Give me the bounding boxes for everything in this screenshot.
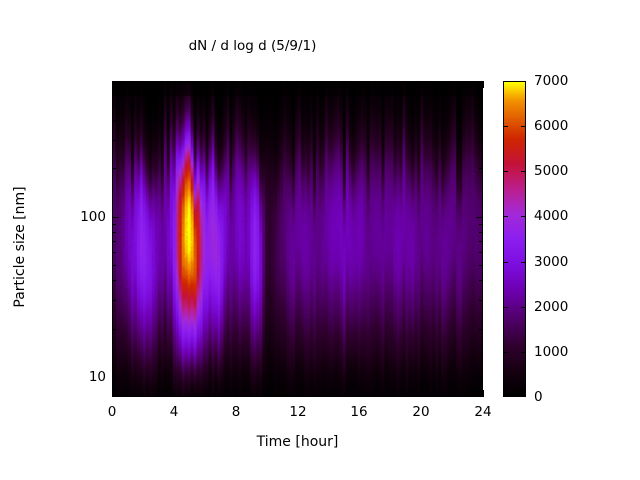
colorbar-tick xyxy=(521,216,526,217)
x-tick-top xyxy=(220,81,221,85)
y-tick xyxy=(112,217,119,218)
x-tick-label: 8 xyxy=(232,404,241,420)
y-tick-right xyxy=(479,329,483,330)
x-tick xyxy=(251,393,252,397)
y-tick xyxy=(112,300,116,301)
colorbar-tick xyxy=(503,216,508,217)
x-tick xyxy=(174,390,175,397)
y-tick-right xyxy=(479,280,483,281)
colorbar-tick xyxy=(503,126,508,127)
x-tick xyxy=(298,390,299,397)
y-tick-right xyxy=(479,92,483,93)
y-tick xyxy=(112,168,116,169)
y-tick xyxy=(112,241,116,242)
y-tick xyxy=(112,232,116,233)
y-tick xyxy=(112,329,116,330)
x-tick-top xyxy=(421,81,422,88)
chart-root: dN / d log d (5/9/1) 04812162024 10100 T… xyxy=(0,0,640,480)
x-tick xyxy=(483,390,484,397)
x-tick-label: 12 xyxy=(289,404,306,420)
x-tick xyxy=(282,393,283,397)
y-tick-right xyxy=(479,265,483,266)
x-tick-top xyxy=(298,81,299,88)
x-tick-label: 16 xyxy=(350,404,367,420)
x-tick-top xyxy=(406,81,407,85)
x-tick xyxy=(359,390,360,397)
y-tick-right xyxy=(479,252,483,253)
x-tick-top xyxy=(437,81,438,85)
colorbar xyxy=(503,81,526,397)
colorbar-tick-label: 1000 xyxy=(534,344,568,360)
colorbar-tick xyxy=(521,171,526,172)
y-tick-right xyxy=(479,104,483,105)
x-tick-label: 0 xyxy=(108,404,117,420)
colorbar-canvas xyxy=(504,82,525,396)
x-tick-top xyxy=(468,81,469,85)
x-tick xyxy=(205,393,206,397)
colorbar-tick xyxy=(521,126,526,127)
x-tick xyxy=(375,393,376,397)
y-tick xyxy=(112,265,116,266)
y-tick xyxy=(112,92,116,93)
colorbar-tick-label: 7000 xyxy=(534,73,568,89)
x-tick-top xyxy=(375,81,376,85)
y-tick-right xyxy=(479,168,483,169)
x-tick xyxy=(158,393,159,397)
colorbar-tick-label: 5000 xyxy=(534,163,568,179)
x-tick-top xyxy=(205,81,206,85)
x-tick-top xyxy=(390,81,391,85)
x-tick xyxy=(313,393,314,397)
chart-title: dN / d log d (5/9/1) xyxy=(0,38,505,54)
y-tick-right xyxy=(479,300,483,301)
x-tick-label: 4 xyxy=(170,404,179,420)
x-tick xyxy=(236,390,237,397)
x-tick xyxy=(452,393,453,397)
x-tick-label: 24 xyxy=(474,404,491,420)
y-tick xyxy=(112,280,116,281)
y-tick-right xyxy=(476,217,483,218)
x-tick xyxy=(421,390,422,397)
y-tick-right xyxy=(479,241,483,242)
y-tick xyxy=(112,120,116,121)
x-tick-top xyxy=(127,81,128,85)
x-tick xyxy=(437,393,438,397)
y-tick xyxy=(112,104,116,105)
x-tick-top xyxy=(267,81,268,85)
x-tick-label: 20 xyxy=(412,404,429,420)
y-tick-right xyxy=(479,224,483,225)
x-tick xyxy=(220,393,221,397)
colorbar-tick xyxy=(503,171,508,172)
x-tick-top xyxy=(112,81,113,88)
x-tick xyxy=(406,393,407,397)
y-tick xyxy=(112,252,116,253)
colorbar-tick-label: 0 xyxy=(534,389,543,405)
y-tick-label: 10 xyxy=(89,369,106,385)
x-tick-top xyxy=(313,81,314,85)
heatmap-plot-area xyxy=(112,81,483,397)
x-tick-top xyxy=(174,81,175,88)
colorbar-tick-label: 6000 xyxy=(534,118,568,134)
x-tick xyxy=(112,390,113,397)
x-tick-top xyxy=(483,81,484,88)
colorbar-tick-label: 2000 xyxy=(534,299,568,315)
y-tick-right xyxy=(476,377,483,378)
colorbar-tick xyxy=(503,352,508,353)
y-tick-right xyxy=(479,232,483,233)
y-axis-title: Particle size [nm] xyxy=(12,167,28,327)
colorbar-tick xyxy=(521,352,526,353)
y-tick xyxy=(112,224,116,225)
heatmap-canvas xyxy=(113,82,482,396)
y-tick xyxy=(112,377,119,378)
y-tick-label: 100 xyxy=(80,209,106,225)
x-tick-top xyxy=(189,81,190,85)
colorbar-tick xyxy=(521,307,526,308)
x-tick-top xyxy=(344,81,345,85)
x-tick xyxy=(189,393,190,397)
x-tick xyxy=(143,393,144,397)
x-tick xyxy=(390,393,391,397)
y-tick-right xyxy=(479,140,483,141)
x-tick-top xyxy=(282,81,283,85)
x-tick xyxy=(328,393,329,397)
x-tick-top xyxy=(251,81,252,85)
x-tick xyxy=(267,393,268,397)
x-tick-top xyxy=(143,81,144,85)
x-tick xyxy=(127,393,128,397)
x-tick xyxy=(468,393,469,397)
x-tick-top xyxy=(359,81,360,88)
x-tick xyxy=(344,393,345,397)
colorbar-tick xyxy=(503,262,508,263)
colorbar-tick-label: 4000 xyxy=(534,208,568,224)
colorbar-tick-label: 3000 xyxy=(534,254,568,270)
x-tick-top xyxy=(236,81,237,88)
x-tick-top xyxy=(452,81,453,85)
y-tick-right xyxy=(479,120,483,121)
colorbar-tick xyxy=(503,307,508,308)
colorbar-tick xyxy=(521,262,526,263)
x-axis-title: Time [hour] xyxy=(112,434,483,450)
y-tick xyxy=(112,140,116,141)
x-tick-top xyxy=(328,81,329,85)
x-tick-top xyxy=(158,81,159,85)
